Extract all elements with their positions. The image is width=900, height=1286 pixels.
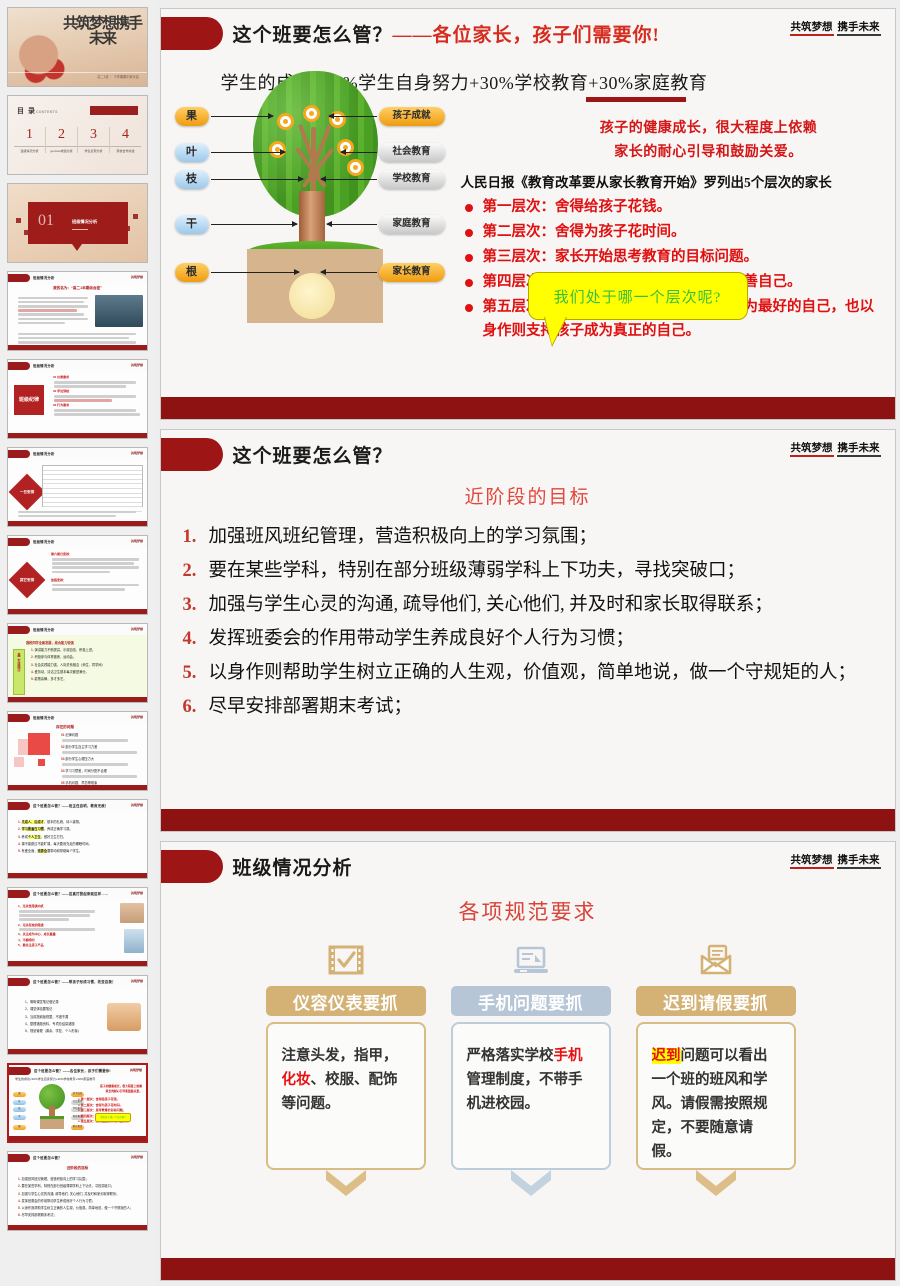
envelope-icon bbox=[696, 934, 736, 980]
tree-tag-branch: 枝 bbox=[175, 170, 209, 189]
contents-item-1[interactable]: 1班级情况分析 bbox=[14, 127, 45, 153]
contents-item-3[interactable]: 3学生表现分析 bbox=[77, 127, 109, 153]
slide-thumbnail-2[interactable]: 目 录CONTENTS 1班级情况分析 2german成绩分析 3学生表现分析 … bbox=[7, 95, 148, 175]
chevron-down-icon bbox=[326, 1170, 366, 1196]
slide-3: 班级情况分析 共筑梦想携手未来 各项规范要求 bbox=[160, 841, 896, 1281]
card-2-caption: 手机问题要抓 bbox=[451, 986, 611, 1016]
tree-tag-trunk: 干 bbox=[175, 215, 209, 234]
slide-scroll-pane[interactable]: 这个班要怎么管？——各位家长，孩子们需要你! 共筑梦想携手未来 学生的成功=40… bbox=[155, 0, 900, 1286]
slide-thumbnail-sidebar[interactable]: 共筑梦想携手未来 高二1班 ｜ 下学期期中家长会 目 录CONTENTS 1班级… bbox=[0, 0, 155, 1286]
goal-item-6: 6.尽早安排部署期末考试； bbox=[183, 690, 877, 724]
brand-logo: 共筑梦想携手未来 bbox=[790, 21, 881, 33]
header-pill-decoration bbox=[161, 850, 223, 883]
card-1-caption: 仪容仪表要抓 bbox=[266, 986, 426, 1016]
slide-thumbnail-8[interactable]: 班级情况分析 共筑梦想 高二五班简介 我校同学全面发展，综合能力较强 1. 演讲… bbox=[7, 623, 148, 703]
requirement-card-2[interactable]: 手机问题要抓 严格落实学校手机管理制度，不带手机进校园。 bbox=[451, 934, 611, 1196]
slide-thumbnail-1[interactable]: 共筑梦想携手未来 高二1班 ｜ 下学期期中家长会 bbox=[7, 7, 148, 87]
question-callout-bubble: 我们处于哪一个层次呢? bbox=[528, 272, 748, 320]
tree-tag-social-edu: 社会教育 bbox=[379, 143, 445, 162]
card-3-body: 迟到问题可以看出一个班的班风和学风。请假需按照规定，不要随意请假。 bbox=[636, 1022, 796, 1170]
slide-thumbnail-11[interactable]: 这个班要怎么管？——这真打罢起来就这样…… 共筑梦想 1、无关性陪读内疚 2、无… bbox=[7, 887, 148, 967]
card-3-caption: 迟到请假要抓 bbox=[636, 986, 796, 1016]
mini-logo: 共筑梦想 bbox=[131, 275, 143, 279]
slide-thumbnail-9[interactable]: 班级情况分析 共筑梦想 存在的问题 01 纪律问题 02 部分学生自主学习力差 … bbox=[7, 711, 148, 791]
slide-thumbnail-10[interactable]: 这个班要怎么管？——班主任自明，教育无痕！ 共筑梦想 1. 先成人、后成才，基本… bbox=[7, 799, 148, 879]
goals-list: 1.加强班风班纪管理，营造积极向上的学习氛围； 2.要在某些学科，特别在部分班级… bbox=[183, 520, 877, 724]
parent-levels-list: 第一层次：舍得给孩子花钱。 第二层次：舍得为孩子花时间。 第三层次：家长开始思考… bbox=[461, 195, 885, 343]
tree-tag-fruit: 果 bbox=[175, 107, 209, 126]
requirement-card-3[interactable]: 迟到请假要抓 迟到问题可以看出一个班的班风和学风。请假需按照规定，不要随意请假。 bbox=[636, 934, 796, 1196]
tree-tag-leaf: 叶 bbox=[175, 143, 209, 162]
mini-badge-icon bbox=[8, 274, 30, 282]
parent-level-3: 第三层次：家长开始思考教育的目标问题。 bbox=[461, 245, 885, 270]
goal-item-2: 2.要在某些学科，特别在部分班级薄弱学科上下功夫，寻找突破口； bbox=[183, 554, 877, 588]
goal-item-5: 5.以身作则帮助学生树立正确的人生观，价值观，简单地说，做一个守规矩的人； bbox=[183, 656, 877, 690]
chevron-down-icon bbox=[511, 1170, 551, 1196]
slide-thumbnail-7[interactable]: 班级情况分析 共筑梦想 其它安排 周六周日安排： 放假安排： bbox=[7, 535, 148, 615]
film-check-icon bbox=[326, 934, 366, 980]
section-divider-slide: 01 班级情况分析 bbox=[8, 184, 147, 262]
red-emphasis-line-1: 孩子的健康成长，很大程度上依赖 bbox=[539, 117, 879, 137]
requirement-card-1[interactable]: 仪容仪表要抓 注意头发，指甲，化妆、校服、配饰等问题。 bbox=[266, 934, 426, 1196]
brand-logo: 共筑梦想携手未来 bbox=[790, 854, 881, 866]
slide-thumbnail-12[interactable]: 这个班要怎么管？——帮孩子形成习惯，改变自我！ 共筑梦想 1、明晰课堂笔记做记录… bbox=[7, 975, 148, 1055]
slide-2-title: 这个班要怎么管？ bbox=[233, 441, 393, 468]
slide-thumbnail-13-selected[interactable]: 这个班要怎么管？——各位家长，孩子们需要你! 共筑梦想 学生的成功=40%学生自… bbox=[7, 1063, 148, 1143]
section-card: 01 班级情况分析 bbox=[28, 202, 128, 244]
tree-tag-parent-edu: 家长教育 bbox=[379, 263, 445, 282]
slide-1-footer-bar bbox=[161, 397, 895, 419]
presentation-editor: 共筑梦想携手未来 高二1班 ｜ 下学期期中家长会 目 录CONTENTS 1班级… bbox=[0, 0, 900, 1286]
title-slide-rule bbox=[8, 72, 147, 73]
mini-badge-icon bbox=[8, 362, 30, 370]
requirement-cards: 仪容仪表要抓 注意头发，指甲，化妆、校服、配饰等问题。 bbox=[266, 934, 796, 1196]
goal-item-3: 3.加强与学生心灵的沟通, 疏导他们, 关心他们, 并及时和家长取得联系； bbox=[183, 588, 877, 622]
mini-tree-figure bbox=[35, 1084, 69, 1124]
header-pill-decoration bbox=[161, 438, 223, 471]
section-number: 01 bbox=[38, 212, 54, 230]
source-citation: 人民日报《教育改革要从家长教育开始》罗列出5个层次的家长 bbox=[461, 171, 832, 191]
parent-level-1: 第一层次：舍得给孩子花钱。 bbox=[461, 195, 885, 220]
slide-thumbnail-14[interactable]: 这个班要怎么管？ 共筑梦想 近阶段的目标 1. 加强班风班纪管理，营造积极向上的… bbox=[7, 1151, 148, 1231]
tree-tag-school-edu: 学校教育 bbox=[379, 170, 445, 189]
title-slide-wordmark: 共筑梦想携手未来 bbox=[63, 16, 141, 64]
tree-tag-root: 根 bbox=[175, 263, 209, 282]
parent-level-2: 第二层次：舍得为孩子花时间。 bbox=[461, 220, 885, 245]
section-label: 班级情况分析 bbox=[72, 219, 97, 225]
slide-3-header: 班级情况分析 共筑梦想携手未来 bbox=[161, 842, 895, 890]
slide-thumbnail-5[interactable]: 班级情况分析 共筑梦想 班级纪律 01 仪表要求 02 学法到校 03 行为要求 bbox=[7, 359, 148, 439]
tree-tag-achievement: 孩子成就 bbox=[379, 107, 445, 126]
brand-logo: 共筑梦想携手未来 bbox=[790, 442, 881, 454]
contents-red-bar bbox=[90, 106, 138, 115]
slide-thumbnail-4[interactable]: 班级情况分析 共筑梦想 我的名为：“高二1半期综合症” bbox=[7, 271, 148, 351]
slide-2: 这个班要怎么管？ 共筑梦想携手未来 近阶段的目标 1.加强班风班纪管理，营造积极… bbox=[160, 429, 896, 832]
tree-root-bulb bbox=[289, 273, 335, 319]
slide-1-title: 这个班要怎么管？——各位家长，孩子们需要你! bbox=[233, 20, 660, 47]
education-tree-figure: 果 叶 枝 干 根 孩子成就 社会教育 学校教育 家庭教育 家长教育 bbox=[169, 63, 459, 333]
header-pill-decoration bbox=[161, 17, 223, 50]
slide-2-header: 这个班要怎么管？ 共筑梦想携手未来 bbox=[161, 430, 895, 478]
equation-underline bbox=[586, 97, 686, 102]
slide-thumbnail-3[interactable]: 01 班级情况分析 bbox=[7, 183, 148, 263]
card-2-body: 严格落实学校手机管理制度，不带手机进校园。 bbox=[451, 1022, 611, 1170]
green-side-label: 高二五班简介 bbox=[13, 649, 25, 695]
slide-3-subtitle: 各项规范要求 bbox=[161, 896, 895, 926]
slide-thumbnail-6[interactable]: 班级情况分析 共筑梦想 一日安排 bbox=[7, 447, 148, 527]
red-emphasis-line-2: 家长的耐心引导和鼓励关爱。 bbox=[539, 141, 879, 161]
chevron-down-icon bbox=[696, 1170, 736, 1196]
goal-item-1: 1.加强班风班纪管理，营造积极向上的学习氛围； bbox=[183, 520, 877, 554]
contents-number-row: 1班级情况分析 2german成绩分析 3学生表现分析 4家校合作共建 bbox=[14, 127, 141, 153]
slide-2-footer-bar bbox=[161, 809, 895, 831]
contents-item-2[interactable]: 2german成绩分析 bbox=[45, 127, 77, 153]
diamond-label: 一日安排 bbox=[9, 474, 46, 511]
tree-tag-family-edu: 家庭教育 bbox=[379, 215, 445, 234]
slide-3-title: 班级情况分析 bbox=[233, 853, 353, 880]
contents-item-4[interactable]: 4家校合作共建 bbox=[109, 127, 141, 153]
slide-2-subtitle: 近阶段的目标 bbox=[161, 482, 895, 509]
title-slide-subtitle: 高二1班 ｜ 下学期期中家长会 bbox=[97, 74, 139, 79]
goal-item-4: 4.发挥班委会的作用带动学生养成良好个人行为习惯； bbox=[183, 622, 877, 656]
slide-1: 这个班要怎么管？——各位家长，孩子们需要你! 共筑梦想携手未来 学生的成功=40… bbox=[160, 8, 896, 420]
laptop-icon bbox=[511, 934, 551, 980]
card-1-body: 注意头发，指甲，化妆、校服、配饰等问题。 bbox=[266, 1022, 426, 1170]
slide-1-header: 这个班要怎么管？——各位家长，孩子们需要你! 共筑梦想携手未来 bbox=[161, 9, 895, 57]
diamond-label: 其它安排 bbox=[9, 562, 46, 599]
schedule-table bbox=[42, 465, 143, 507]
contents-slide: 目 录CONTENTS 1班级情况分析 2german成绩分析 3学生表现分析 … bbox=[8, 96, 147, 174]
slide-3-footer-bar bbox=[161, 1258, 895, 1280]
contents-heading: 目 录CONTENTS bbox=[17, 106, 58, 116]
